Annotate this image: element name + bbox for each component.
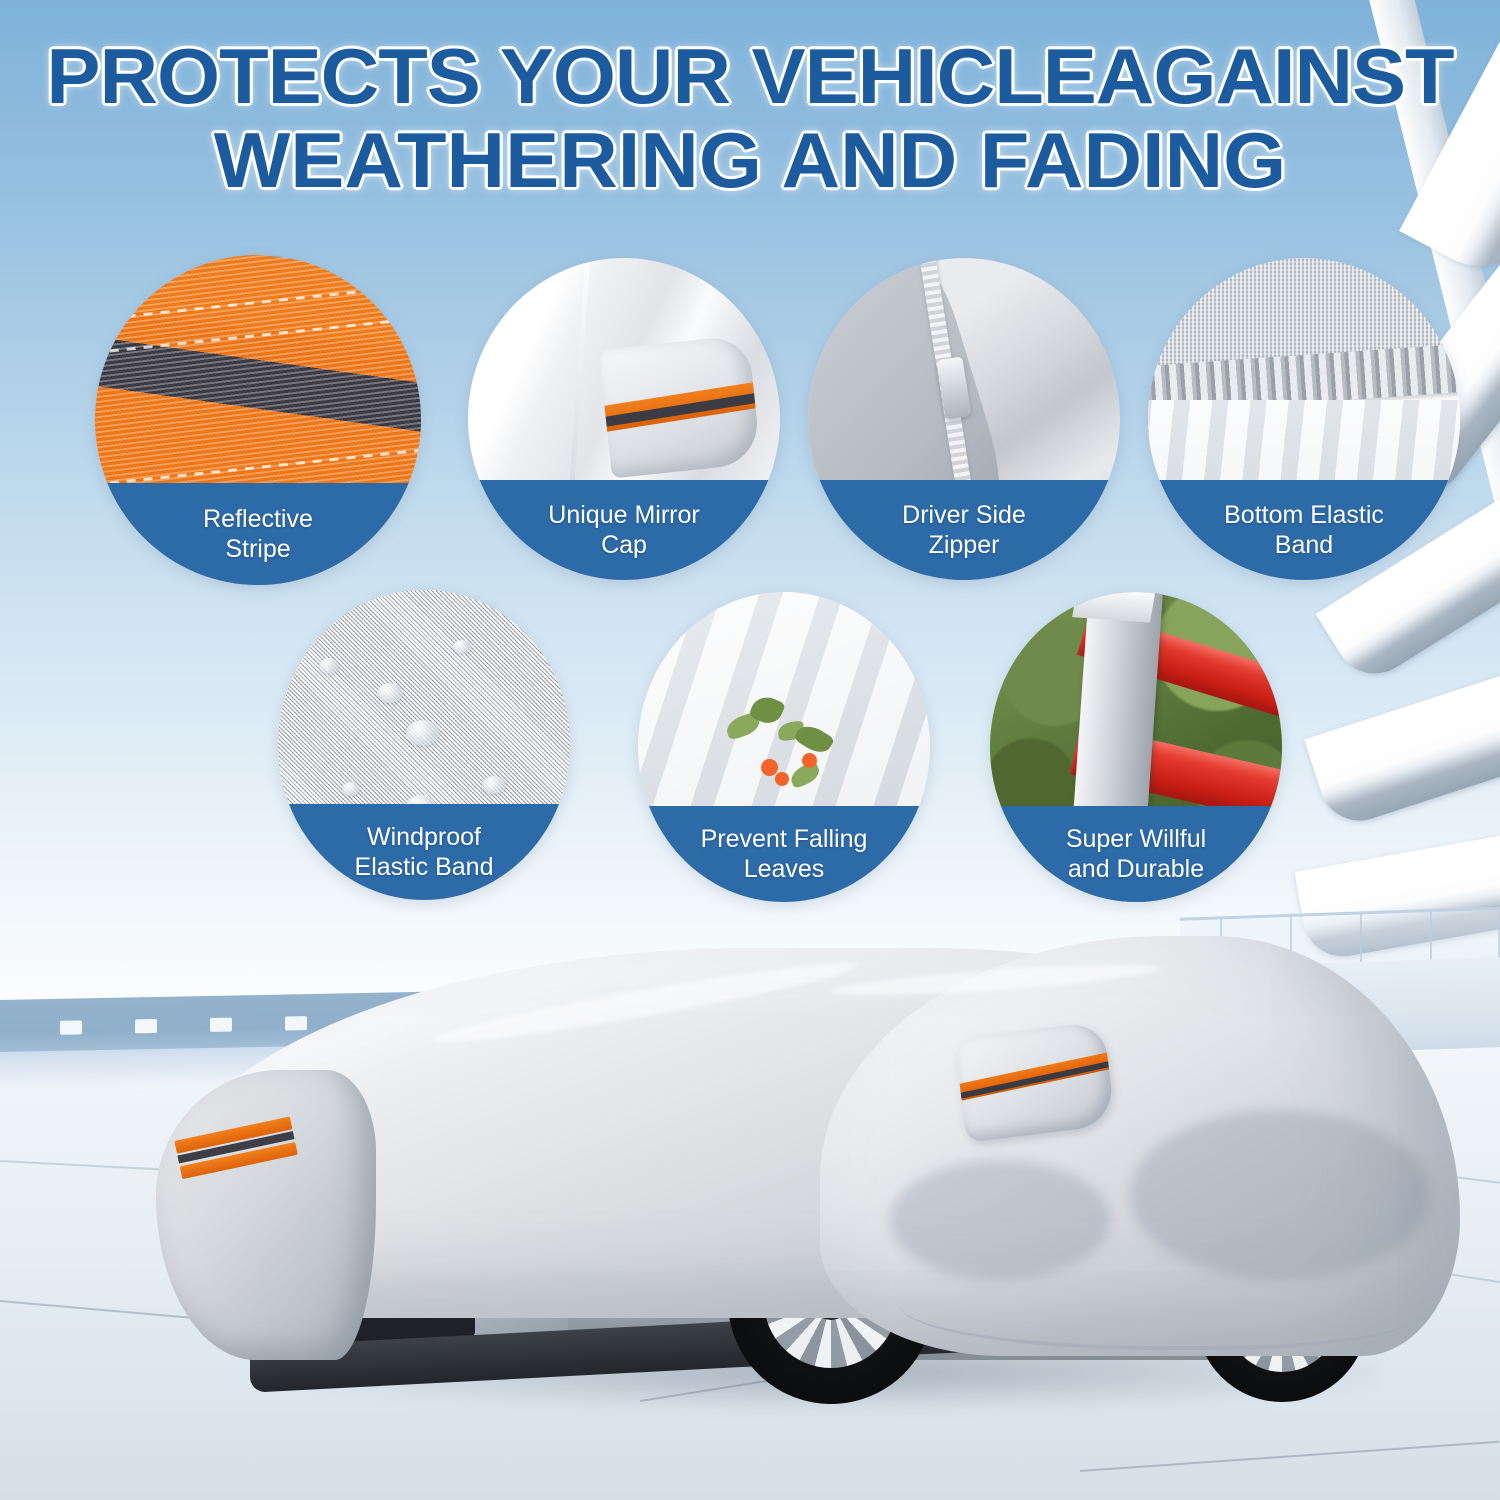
canopy-slab [1304,650,1500,831]
covered-vehicle [130,930,1460,1450]
feature-caption: Prevent Falling Leaves [638,806,930,902]
feature-driver-side-zipper[interactable]: Driver Side Zipper [808,258,1120,580]
feature-caption-line-2: Leaves [744,854,825,884]
feature-caption-line-1: Reflective [203,504,313,534]
car-cover-nose-drape [156,1070,376,1360]
feature-caption-line-2: Stripe [225,534,290,564]
feature-caption: Reflective Stripe [95,483,421,585]
feature-caption-line-1: Windproof [367,822,481,852]
feature-caption-line-1: Super Willful [1066,824,1206,854]
feature-caption: Unique Mirror Cap [468,480,780,580]
feature-caption: Driver Side Zipper [808,480,1120,580]
cover-shading [1130,1110,1430,1280]
cover-bottom-hem [900,1260,1420,1350]
feature-reflective-stripe[interactable]: Reflective Stripe [95,255,421,585]
feature-caption-line-2: and Durable [1068,854,1204,884]
feature-caption-line-2: Cap [601,530,647,560]
feature-unique-mirror-cap[interactable]: Unique Mirror Cap [468,258,780,580]
feature-super-willful-and-durable[interactable]: Super Willful and Durable [990,592,1282,902]
feature-bottom-elastic-band[interactable]: Bottom Elastic Band [1148,258,1460,580]
feature-caption: Super Willful and Durable [990,806,1282,902]
feature-caption-line-1: Driver Side [902,500,1026,530]
feature-caption: Windproof Elastic Band [278,804,570,900]
feature-caption-line-1: Unique Mirror [548,500,699,530]
feature-caption: Bottom Elastic Band [1148,480,1460,580]
feature-caption-line-2: Band [1275,530,1333,560]
headline-line-2: WEATHERING AND FADING [0,118,1500,202]
feature-caption-line-2: Zipper [929,530,1000,560]
feature-prevent-falling-leaves[interactable]: Prevent Falling Leaves [638,592,930,902]
product-banner: PROTECTS YOUR VEHICLEAGAINST WEATHERING … [0,0,1500,1500]
feature-caption-line-2: Elastic Band [355,852,494,882]
feature-caption-line-1: Bottom Elastic [1224,500,1384,530]
page-title: PROTECTS YOUR VEHICLEAGAINST WEATHERING … [0,34,1500,202]
feature-windproof-elastic-band[interactable]: Windproof Elastic Band [278,590,570,900]
headline-line-1: PROTECTS YOUR VEHICLEAGAINST [0,34,1500,118]
feature-caption-line-1: Prevent Falling [701,824,868,854]
